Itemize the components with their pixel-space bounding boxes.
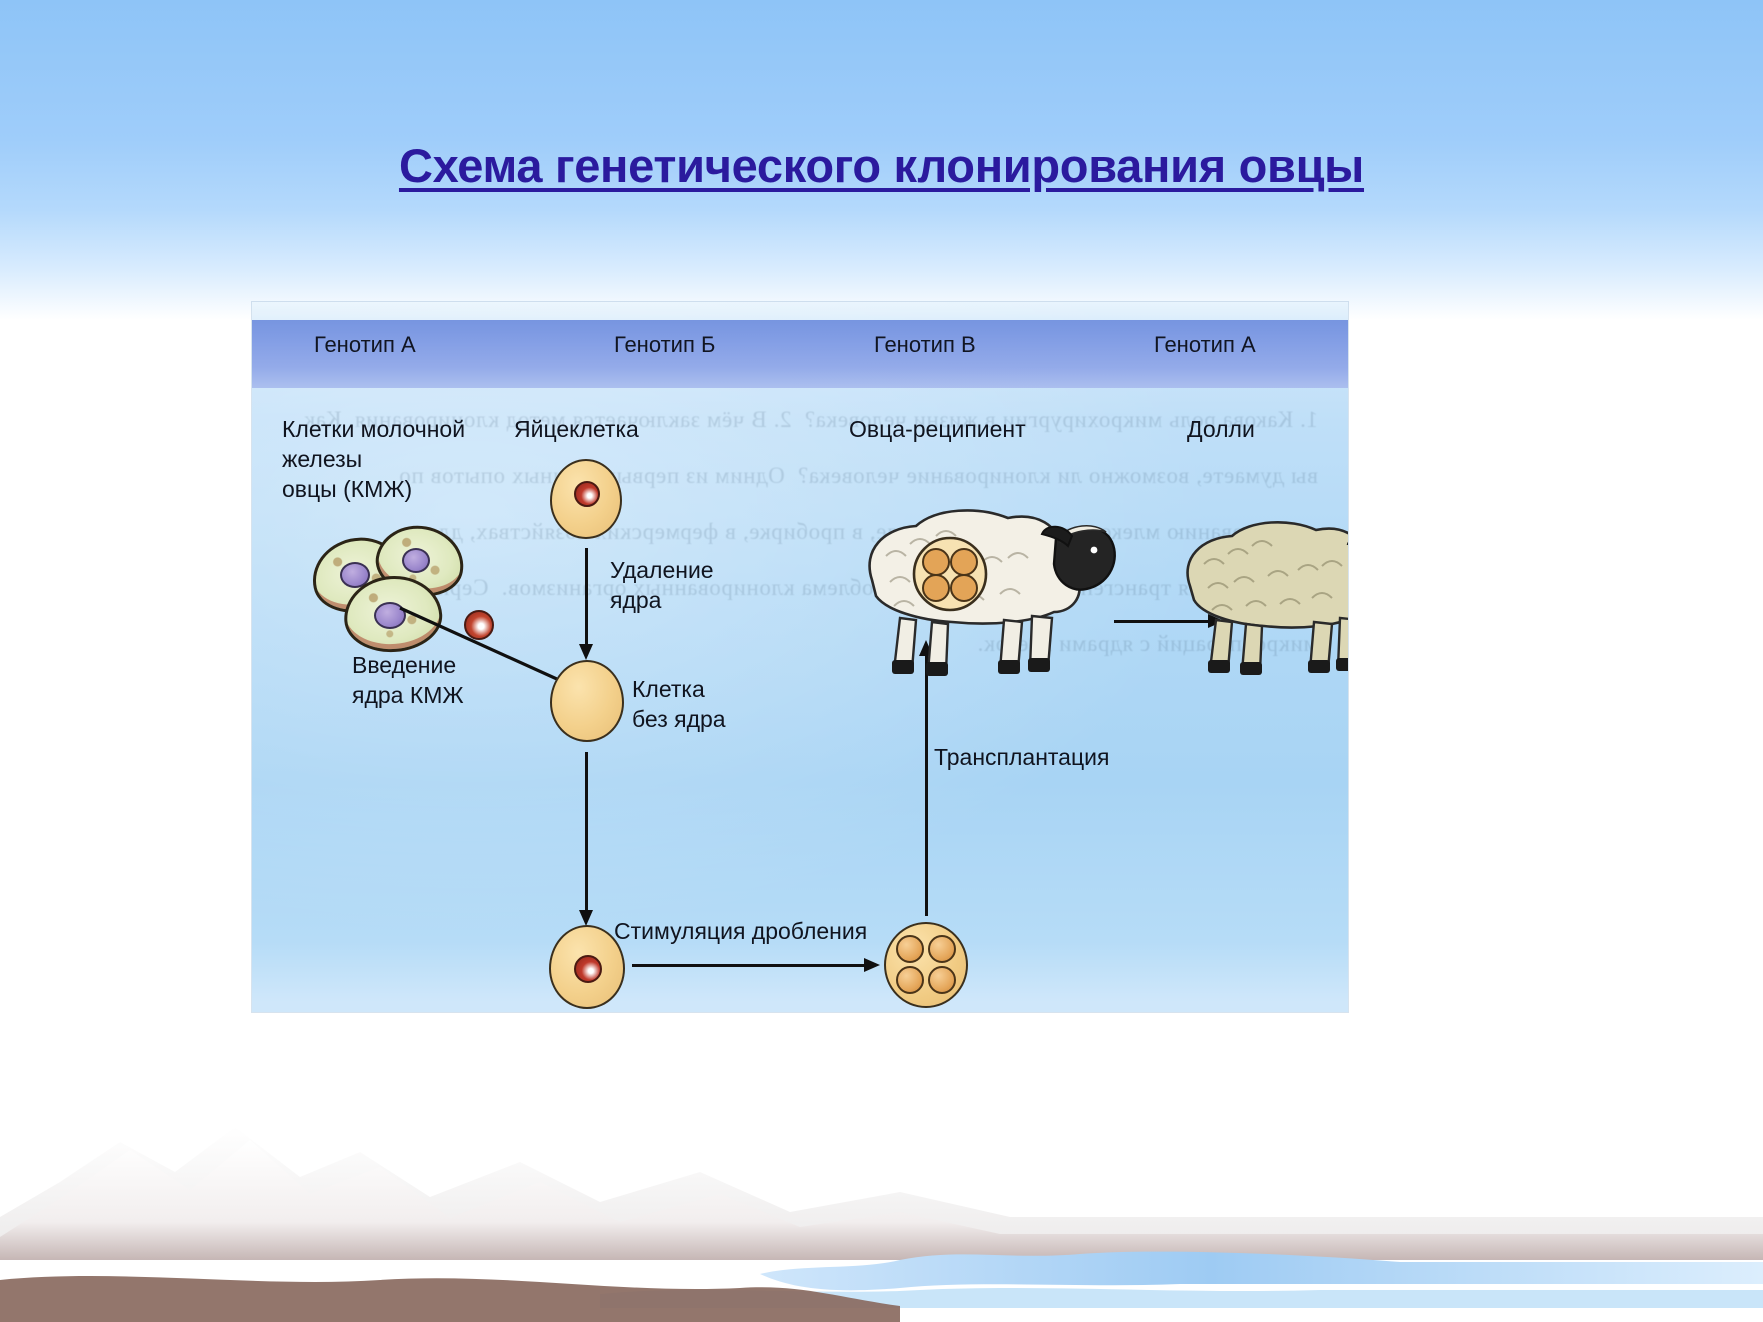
ovum-nucleus-icon bbox=[574, 481, 600, 507]
transplantation-label: Трансплантация bbox=[934, 742, 1109, 772]
nucleus-removal-label: Удаление ядра bbox=[610, 555, 714, 615]
slide-bottom-decoration bbox=[0, 1022, 1763, 1322]
genotype-a-right-label: Генотип А bbox=[1154, 332, 1256, 358]
slide-background: Схема генетического клонирования овцы 1.… bbox=[0, 0, 1763, 1322]
genotype-v-label: Генотип В bbox=[874, 332, 976, 358]
recipient-sheep-illustration bbox=[832, 484, 1122, 684]
mammary-cells-label: Клетки молочной железы овцы (КМЖ) bbox=[282, 414, 465, 504]
genotype-b-label: Генотип Б bbox=[614, 332, 715, 358]
enucleated-cell-icon bbox=[550, 660, 624, 742]
cleavage-stimulation-label: Стимуляция дробления bbox=[614, 916, 867, 946]
nucleus-insertion-label: Введение ядра КМЖ bbox=[352, 650, 464, 710]
dolly-label: Долли bbox=[1187, 414, 1255, 444]
ovum-label: Яйцеклетка bbox=[514, 414, 639, 444]
page-title: Схема генетического клонирования овцы bbox=[0, 138, 1763, 193]
dolly-sheep-illustration bbox=[1158, 498, 1348, 684]
recipient-sheep-label: Овца-реципиент bbox=[849, 414, 1026, 444]
genotype-a-left-label: Генотип А bbox=[314, 332, 416, 358]
zygote-nucleus-icon bbox=[574, 955, 602, 983]
morula-icon bbox=[884, 922, 968, 1008]
cloning-scheme-figure: 1. Какова роль микрохирургии в жизни чел… bbox=[252, 302, 1348, 1012]
enucleated-cell-label: Клетка без ядра bbox=[632, 674, 726, 734]
